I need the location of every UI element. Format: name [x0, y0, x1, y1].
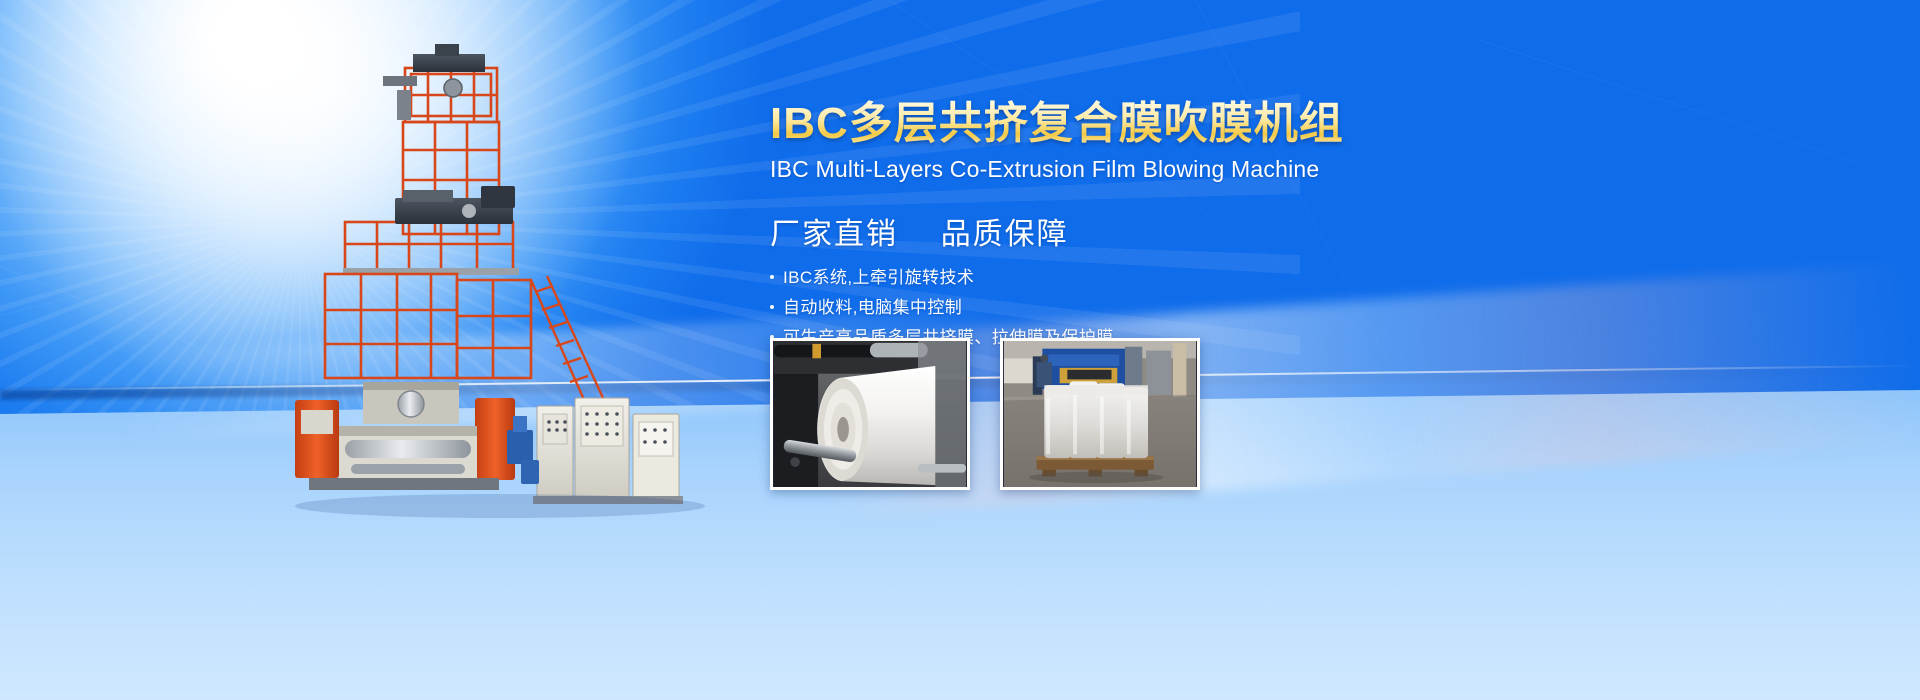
- banner-title-cn: IBC多层共挤复合膜吹膜机组: [770, 98, 1470, 150]
- product-photo-gallery: 大卷薄膜收卷机特写: [770, 338, 1200, 490]
- feature-bullet-list: IBC系统,上牵引旋转技术 自动收料,电脑集中控制 可生产高品质多层共挤膜、拉伸…: [770, 269, 1470, 346]
- bullet-text: IBC系统,上牵引旋转技术: [783, 269, 974, 286]
- mid-platform-rail: [345, 222, 513, 270]
- lower-frame: [325, 274, 531, 378]
- winder-unit: [295, 382, 515, 490]
- extruder-head-assembly: [395, 186, 515, 224]
- access-stairway: [531, 276, 603, 402]
- bullet-dot-icon: [770, 305, 774, 309]
- bullet-text: 自动收料,电脑集中控制: [783, 299, 962, 316]
- control-cabinet-group: [533, 398, 683, 504]
- list-item: 自动收料,电脑集中控制: [770, 299, 1470, 316]
- tagline-part-1: 厂家直销: [770, 218, 898, 251]
- film-roll-photo: 大卷薄膜收卷机特写: [770, 338, 970, 490]
- banner-copy: IBC多层共挤复合膜吹膜机组 IBC Multi-Layers Co-Extru…: [770, 98, 1470, 359]
- banner-tagline: 厂家直销 品质保障: [770, 209, 1470, 253]
- bullet-dot-icon: [770, 275, 774, 279]
- palletized-film-rolls-photo: 托盘上码放的成卷拉伸膜: [1000, 338, 1200, 490]
- blown-film-machine-image: IBC多层共挤吹膜机组设备图: [285, 30, 735, 520]
- tagline-part-2: 品质保障: [941, 218, 1069, 251]
- tower-top-machinery: [383, 44, 485, 120]
- banner-title-en: IBC Multi-Layers Co-Extrusion Film Blowi…: [770, 156, 1470, 183]
- product-banner: IBC多层共挤吹膜机组设备图: [0, 0, 1920, 700]
- list-item: IBC系统,上牵引旋转技术: [770, 269, 1470, 286]
